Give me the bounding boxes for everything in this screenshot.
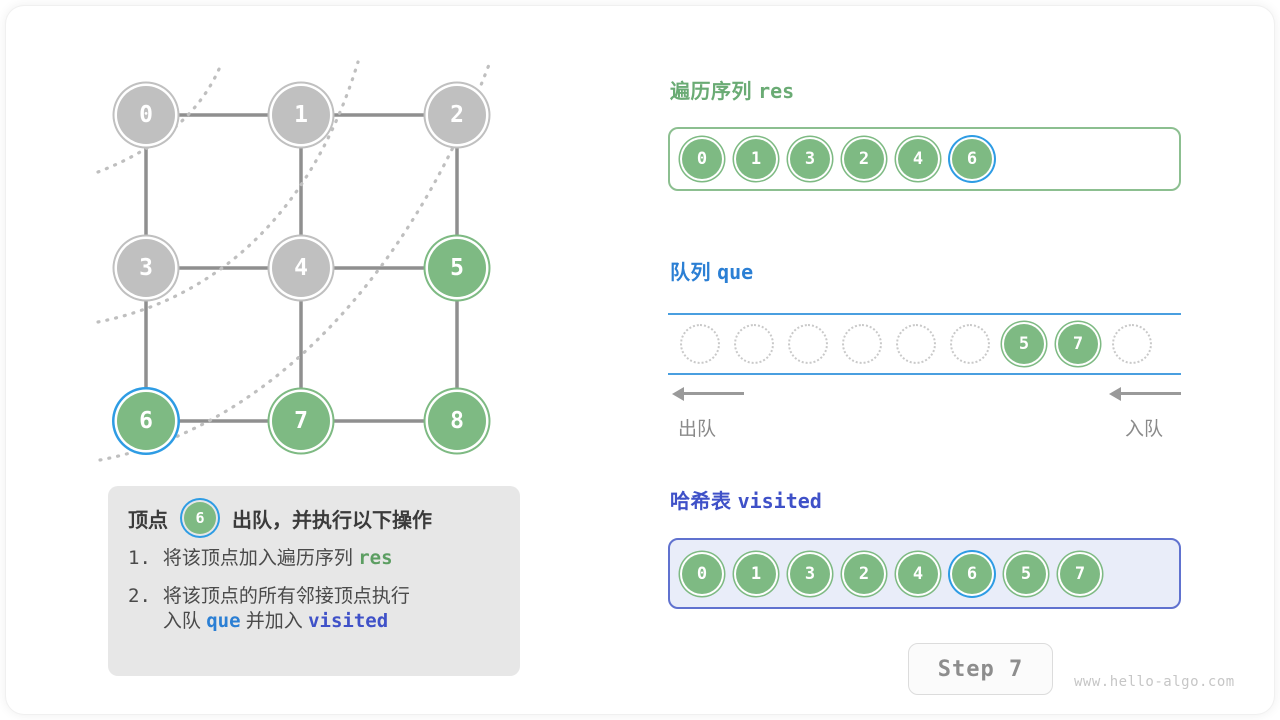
que-slot-empty[interactable] (1112, 324, 1152, 364)
caption-vertex-chip-label: 6 (195, 509, 204, 527)
que-slot-filled[interactable]: 5 (1004, 324, 1044, 364)
graph-node-label: 3 (139, 255, 153, 281)
graph-node-5[interactable]: 5 (428, 239, 486, 297)
dequeue-arrow-shaft (684, 392, 744, 395)
visited-container: 0 1 3 2 4 6 5 7 (668, 538, 1181, 609)
que-cell-row: 5 7 (668, 315, 1166, 373)
visited-cell[interactable]: 1 (736, 554, 776, 594)
que-slot-filled[interactable]: 7 (1058, 324, 1098, 364)
res-cell-label: 4 (913, 149, 923, 169)
que-slot-label: 7 (1073, 334, 1083, 354)
caption-vertex-chip: 6 (184, 502, 216, 534)
visited-panel-title: 哈希表 visited (670, 485, 822, 514)
graph-node-label: 6 (139, 408, 153, 434)
que-title-cn: 队列 (670, 262, 711, 284)
caption-step-2: 2. 将该顶点的所有邻接顶点执行 入队 que 并加入 visited (128, 584, 500, 635)
caption-box: 顶点 6 出队，并执行以下操作 1. 将该顶点加入遍历序列 res 2. 将该顶… (108, 486, 520, 676)
visited-cell-label: 0 (697, 564, 707, 584)
graph-node-label: 4 (294, 255, 308, 281)
graph-node-label: 5 (450, 255, 464, 281)
res-cell-label: 1 (751, 149, 761, 169)
graph-node-0[interactable]: 0 (117, 86, 175, 144)
visited-cell[interactable]: 3 (790, 554, 830, 594)
graph-node-2[interactable]: 2 (428, 86, 486, 144)
graph-node-label: 8 (450, 408, 464, 434)
res-title-code: res (758, 79, 794, 103)
visited-cell-active[interactable]: 6 (952, 554, 992, 594)
caption-step-2-code-que: que (206, 610, 240, 632)
graph-node-label: 0 (139, 102, 153, 128)
graph-node-label: 7 (294, 408, 308, 434)
visited-cell-label: 2 (859, 564, 869, 584)
res-cell[interactable]: 1 (736, 139, 776, 179)
enqueue-arrow-head-icon (1109, 387, 1121, 401)
caption-step-1-code: res (358, 547, 392, 569)
visited-cell[interactable]: 5 (1006, 554, 1046, 594)
visited-cell[interactable]: 2 (844, 554, 884, 594)
graph-node-1[interactable]: 1 (272, 86, 330, 144)
que-slot-label: 5 (1019, 334, 1029, 354)
graph-node-label: 1 (294, 102, 308, 128)
caption-head-suffix: 出队，并执行以下操作 (232, 504, 432, 533)
step-badge-label: Step 7 (938, 657, 1023, 682)
step-badge: Step 7 (908, 643, 1053, 695)
caption-head-prefix: 顶点 (128, 504, 168, 533)
que-title-code: que (717, 260, 753, 284)
que-slot-empty[interactable] (734, 324, 774, 364)
visited-cell-label: 5 (1021, 564, 1031, 584)
graph-node-label: 2 (450, 102, 464, 128)
graph-node-7[interactable]: 7 (272, 392, 330, 450)
caption-step-2-text: 将该顶点的所有邻接顶点执行 (163, 586, 410, 607)
visited-cell-label: 1 (751, 564, 761, 584)
visited-cell-label: 6 (967, 564, 977, 584)
caption-step-1-number: 1. (128, 546, 151, 572)
res-title-cn: 遍历序列 (670, 81, 752, 103)
res-cell[interactable]: 3 (790, 139, 830, 179)
caption-step-2-cont-b: 并加入 (246, 611, 303, 632)
visited-title-cn: 哈希表 (670, 491, 732, 513)
visited-cell[interactable]: 7 (1060, 554, 1100, 594)
caption-step-1-body: 将该顶点加入遍历序列 res (163, 546, 393, 572)
que-panel-title: 队列 que (670, 256, 753, 285)
graph-node-4[interactable]: 4 (272, 239, 330, 297)
que-slot-empty[interactable] (842, 324, 882, 364)
enqueue-label: 入队 (1125, 414, 1163, 441)
res-cell[interactable]: 4 (898, 139, 938, 179)
res-cell-label: 2 (859, 149, 869, 169)
res-cell-label: 0 (697, 149, 707, 169)
visited-cell-label: 7 (1075, 564, 1085, 584)
res-container: 0 1 3 2 4 6 (668, 127, 1181, 191)
caption-step-1-text: 将该顶点加入遍历序列 (163, 548, 353, 569)
caption-step-2-cont-a: 入队 (163, 611, 201, 632)
illustration-canvas: 0 1 2 3 4 5 6 7 8 顶点 6 出队，并执行以下操作 1. 将该顶… (0, 0, 1280, 720)
que-slot-empty[interactable] (950, 324, 990, 364)
caption-step-2-code-visited: visited (308, 610, 388, 632)
visited-cell-row: 0 1 3 2 4 6 5 7 (670, 540, 1114, 607)
caption-headline: 顶点 6 出队，并执行以下操作 (128, 502, 500, 534)
que-slot-empty[interactable] (680, 324, 720, 364)
visited-title-code: visited (738, 489, 822, 513)
res-cell-active[interactable]: 6 (952, 139, 992, 179)
caption-step-2-body: 将该顶点的所有邻接顶点执行 入队 que 并加入 visited (163, 584, 410, 635)
res-cell-row: 0 1 3 2 4 6 (670, 129, 1006, 189)
dequeue-label: 出队 (678, 414, 716, 441)
visited-cell-label: 4 (913, 564, 923, 584)
caption-step-1: 1. 将该顶点加入遍历序列 res (128, 546, 500, 572)
que-container: 5 7 (668, 313, 1181, 375)
visited-cell[interactable]: 0 (682, 554, 722, 594)
enqueue-arrow-shaft (1121, 392, 1181, 395)
visited-cell[interactable]: 4 (898, 554, 938, 594)
graph-node-8[interactable]: 8 (428, 392, 486, 450)
res-cell[interactable]: 0 (682, 139, 722, 179)
graph-node-6[interactable]: 6 (117, 392, 175, 450)
dequeue-arrow-head-icon (672, 387, 684, 401)
res-cell-label: 3 (805, 149, 815, 169)
visited-cell-label: 3 (805, 564, 815, 584)
res-cell-label: 6 (967, 149, 977, 169)
watermark: www.hello-algo.com (1074, 674, 1235, 690)
que-slot-empty[interactable] (788, 324, 828, 364)
graph-node-3[interactable]: 3 (117, 239, 175, 297)
res-cell[interactable]: 2 (844, 139, 884, 179)
caption-step-2-number: 2. (128, 584, 151, 635)
res-panel-title: 遍历序列 res (670, 75, 794, 104)
que-slot-empty[interactable] (896, 324, 936, 364)
